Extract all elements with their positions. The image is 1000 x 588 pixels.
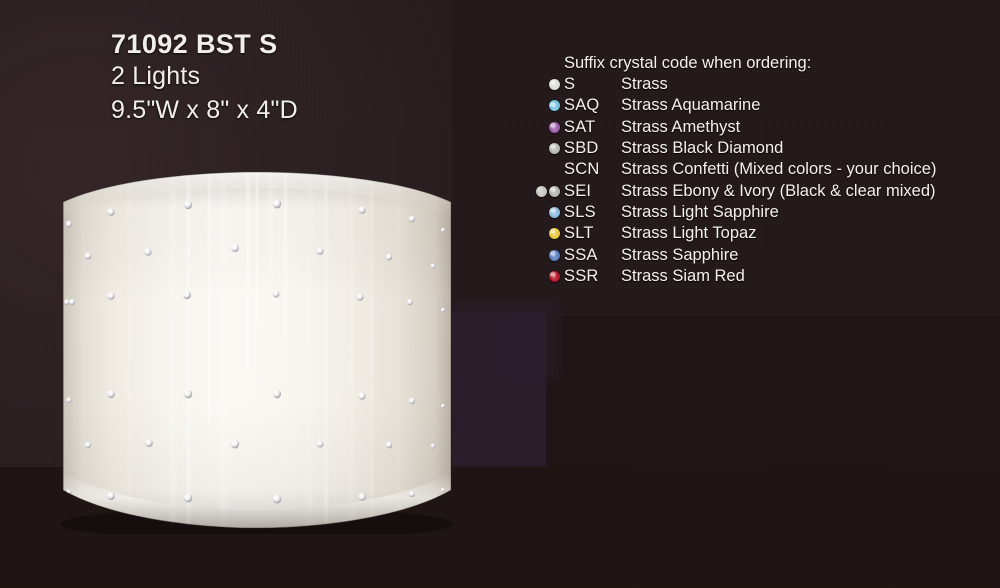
crystal-code-legend: Suffix crystal code when ordering: SStra… [528,52,936,287]
crystal-description: Strass Aquamarine [621,96,760,115]
legend-row-list: SStrassSAQStrass AquamarineSATStrass Ame… [528,74,936,287]
crystal-code: SBD [564,139,621,158]
legend-row[interactable]: SBDStrass Black Diamond [528,138,936,159]
crystal-description: Strass Sapphire [621,246,738,265]
crystal-swatch-group [528,79,564,90]
legend-row[interactable]: SLSStrass Light Sapphire [528,202,936,223]
crystal-code: SSA [564,246,621,265]
crystal-gem-icon [549,122,560,133]
product-dimensions: 9.5"W x 8" x 4"D [111,93,298,127]
product-light-count: 2 Lights [111,60,298,93]
crystal-gem-icon [549,79,560,90]
crystal-gem-icon [536,186,547,197]
crystal-description: Strass Ebony & Ivory (Black & clear mixe… [621,182,936,201]
crystal-code: SAT [564,118,621,137]
crystal-gem-icon [549,143,560,154]
crystal-code: SCN [564,160,621,179]
crystal-gem-icon [549,250,560,261]
product-spec-page: 71092 BST S 2 Lights 9.5"W x 8" x 4"D [0,0,1000,588]
crystal-description: Strass Light Sapphire [621,203,779,222]
crystal-swatch-group [528,186,564,197]
crystal-swatch-group [528,271,564,282]
legend-title: Suffix crystal code when ordering: [564,52,936,74]
product-title-block: 71092 BST S 2 Lights 9.5"W x 8" x 4"D [111,28,298,127]
legend-row[interactable]: SSAStrass Sapphire [528,244,936,265]
crystal-code: SAQ [564,96,621,115]
product-photo-wall-sconce [55,172,459,534]
crystal-description: Strass Amethyst [621,118,740,137]
product-model-code: 71092 BST S [111,28,298,60]
crystal-code: SEI [564,182,621,201]
crystal-gem-icon [549,186,560,197]
crystal-description: Strass [621,75,668,94]
crystal-gem-icon [549,100,560,111]
crystal-code: SSR [564,267,621,286]
crystal-description: Strass Siam Red [621,267,745,286]
crystal-swatch-group [528,250,564,261]
background-purple-patch [452,312,546,467]
crystal-gem-icon [549,207,560,218]
legend-row[interactable]: SLTStrass Light Topaz [528,223,936,244]
crystal-description: Strass Confetti (Mixed colors - your cho… [621,160,936,179]
legend-row[interactable]: SStrass [528,74,936,95]
crystal-gem-icon [549,271,560,282]
crystal-description: Strass Light Topaz [621,224,756,243]
crystal-code: SLS [564,203,621,222]
legend-row[interactable]: SSRStrass Siam Red [528,266,936,287]
crystal-description: Strass Black Diamond [621,139,783,158]
crystal-swatch-group [528,122,564,133]
lamp-shade-body [55,172,459,534]
crystal-swatch-group [528,143,564,154]
legend-row[interactable]: SEIStrass Ebony & Ivory (Black & clear m… [528,180,936,201]
legend-row[interactable]: SCNStrass Confetti (Mixed colors - your … [528,159,936,180]
crystal-swatch-group [528,207,564,218]
legend-row[interactable]: SATStrass Amethyst [528,117,936,138]
crystal-code: S [564,75,621,94]
legend-row[interactable]: SAQStrass Aquamarine [528,95,936,116]
crystal-gem-icon [549,228,560,239]
crystal-swatch-group [528,228,564,239]
crystal-swatch-group [528,100,564,111]
crystal-code: SLT [564,224,621,243]
